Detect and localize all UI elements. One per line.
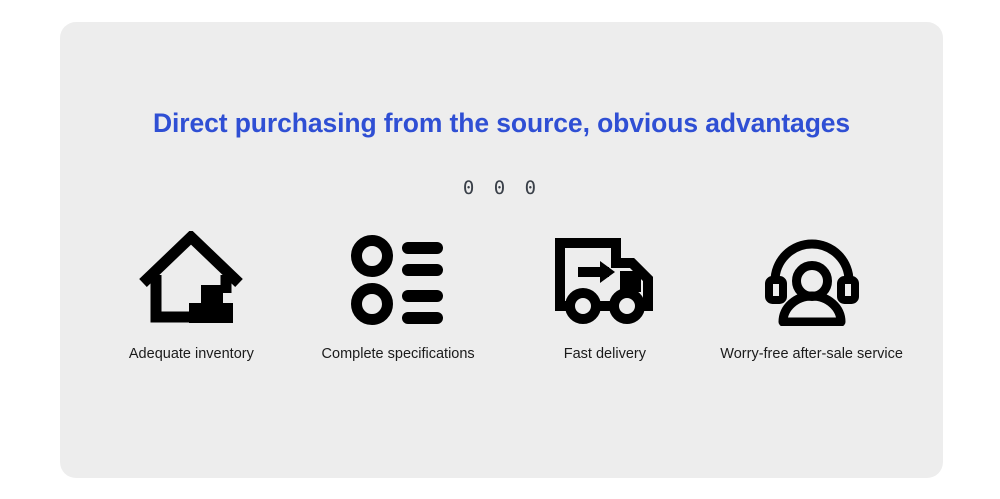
feature-label: Complete specifications [322, 346, 475, 363]
promo-banner: Direct purchasing from the source, obvio… [0, 0, 1000, 499]
feature-item-after-sale: Worry-free after-sale service [708, 230, 915, 363]
feature-label: Worry-free after-sale service [720, 346, 903, 363]
feature-label: Fast delivery [564, 346, 646, 363]
title-divider-ornament: 0 0 0 [60, 177, 943, 199]
feature-label: Adequate inventory [129, 346, 254, 363]
warehouse-house-icon [139, 230, 243, 330]
feature-item-inventory: Adequate inventory [88, 230, 295, 363]
specification-list-icon [349, 230, 447, 330]
feature-item-delivery: Fast delivery [502, 230, 709, 363]
delivery-truck-icon [553, 230, 657, 330]
feature-item-specifications: Complete specifications [295, 230, 502, 363]
feature-list: Adequate inventory Complete specificatio… [88, 230, 915, 363]
page-title: Direct purchasing from the source, obvio… [60, 108, 943, 139]
headset-support-icon [763, 230, 861, 330]
promo-card: Direct purchasing from the source, obvio… [60, 22, 943, 478]
